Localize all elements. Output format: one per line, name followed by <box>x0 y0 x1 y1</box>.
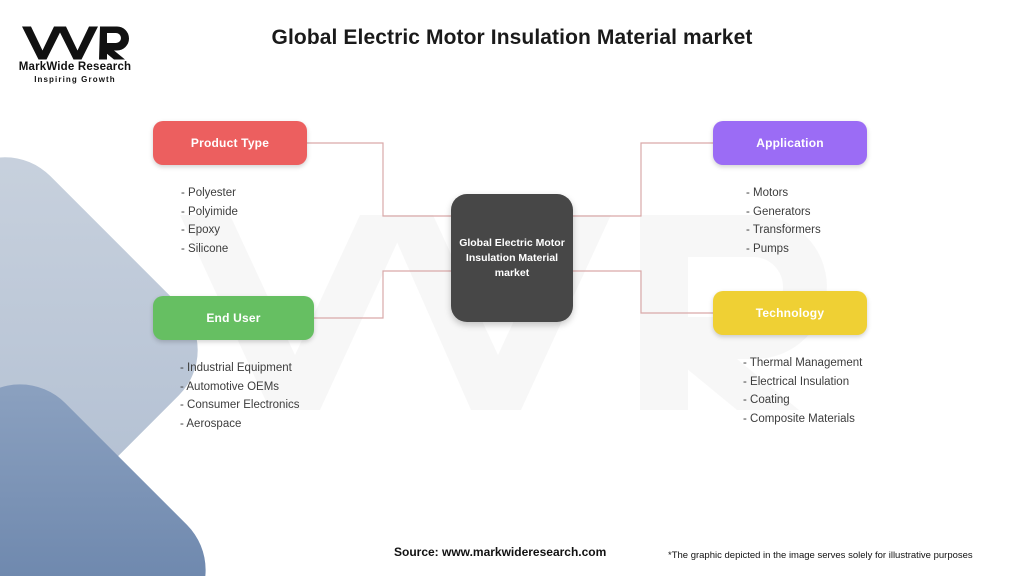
list-item: - Silicone <box>181 240 307 259</box>
logo-tagline: Inspiring Growth <box>14 75 136 84</box>
page-title: Global Electric Motor Insulation Materia… <box>0 26 1024 50</box>
list-item: - Consumer Electronics <box>180 396 314 415</box>
branch-pill-application[interactable]: Application <box>713 121 867 165</box>
connector-application <box>573 143 713 216</box>
list-item: - Epoxy <box>181 221 307 240</box>
connector-end-user <box>314 271 452 318</box>
branch-pill-technology[interactable]: Technology <box>713 291 867 335</box>
source-text: Source: www.markwideresearch.com <box>394 545 606 559</box>
list-item: - Automotive OEMs <box>180 378 314 397</box>
list-item: - Motors <box>746 184 867 203</box>
branch-technology[interactable]: Technology - Thermal Management - Electr… <box>713 291 867 428</box>
infographic-canvas: MarkWide Research Inspiring Growth Globa… <box>0 0 1024 576</box>
branch-items-technology: - Thermal Management - Electrical Insula… <box>713 354 867 428</box>
logo-company-name: MarkWide Research <box>14 61 136 73</box>
branch-label-product-type: Product Type <box>191 136 269 150</box>
branch-product-type[interactable]: Product Type - Polyester - Polyimide - E… <box>153 121 307 258</box>
connector-technology <box>573 271 713 313</box>
list-item: - Generators <box>746 203 867 222</box>
branch-label-technology: Technology <box>756 306 824 320</box>
list-item: - Aerospace <box>180 415 314 434</box>
list-item: - Polyimide <box>181 203 307 222</box>
list-item: - Polyester <box>181 184 307 203</box>
branch-pill-end-user[interactable]: End User <box>153 296 314 340</box>
branch-items-end-user: - Industrial Equipment - Automotive OEMs… <box>153 359 314 433</box>
branch-label-end-user: End User <box>206 311 260 325</box>
list-item: - Pumps <box>746 240 867 259</box>
list-item: - Electrical Insulation <box>743 373 867 392</box>
center-node-label: Global Electric Motor Insulation Materia… <box>451 236 573 281</box>
list-item: - Coating <box>743 391 867 410</box>
branch-label-application: Application <box>756 136 824 150</box>
list-item: - Composite Materials <box>743 410 867 429</box>
disclaimer-text: *The graphic depicted in the image serve… <box>668 550 973 561</box>
branch-application[interactable]: Application - Motors - Generators - Tran… <box>713 121 867 258</box>
branch-items-application: - Motors - Generators - Transformers - P… <box>713 184 867 258</box>
list-item: - Transformers <box>746 221 867 240</box>
branch-items-product-type: - Polyester - Polyimide - Epoxy - Silico… <box>153 184 307 258</box>
branch-pill-product-type[interactable]: Product Type <box>153 121 307 165</box>
branch-end-user[interactable]: End User - Industrial Equipment - Automo… <box>153 296 314 433</box>
connector-product-type <box>307 143 452 216</box>
center-node[interactable]: Global Electric Motor Insulation Materia… <box>451 194 573 322</box>
list-item: - Industrial Equipment <box>180 359 314 378</box>
list-item: - Thermal Management <box>743 354 867 373</box>
